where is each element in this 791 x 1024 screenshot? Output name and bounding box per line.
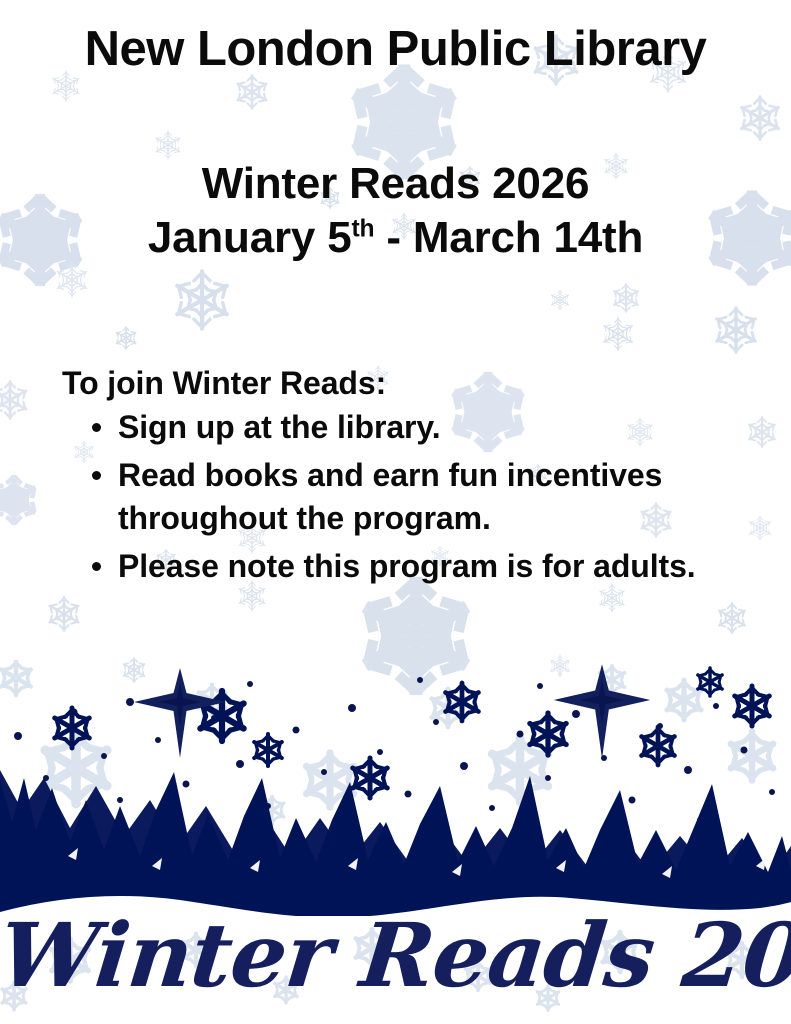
page-title: New London Public Library	[0, 24, 791, 75]
program-heading-block: Winter Reads 2026 January 5th - March 14…	[0, 157, 791, 264]
list-item: Please note this program is for adults.	[62, 545, 762, 589]
program-dates-suffix: - March 14th	[374, 213, 643, 262]
program-dates-ordinal: th	[352, 215, 375, 242]
list-item: Sign up at the library.	[62, 406, 762, 450]
winter-reads-poster: New London Public Library Winter Reads 2…	[0, 0, 791, 1024]
instructions-intro: To join Winter Reads:	[62, 362, 762, 404]
text-layer: New London Public Library Winter Reads 2…	[0, 0, 791, 1024]
program-dates-prefix: January 5	[148, 213, 352, 262]
program-dates: January 5th - March 14th	[0, 211, 791, 265]
program-name: Winter Reads 2026	[0, 157, 791, 211]
instructions-block: To join Winter Reads: Sign up at the lib…	[62, 362, 762, 592]
winter-reads-wordmark: Winter Reads 2026	[0, 903, 791, 1007]
instructions-list: Sign up at the library. Read books and e…	[62, 406, 762, 588]
list-item: Read books and earn fun incentives throu…	[62, 454, 762, 541]
